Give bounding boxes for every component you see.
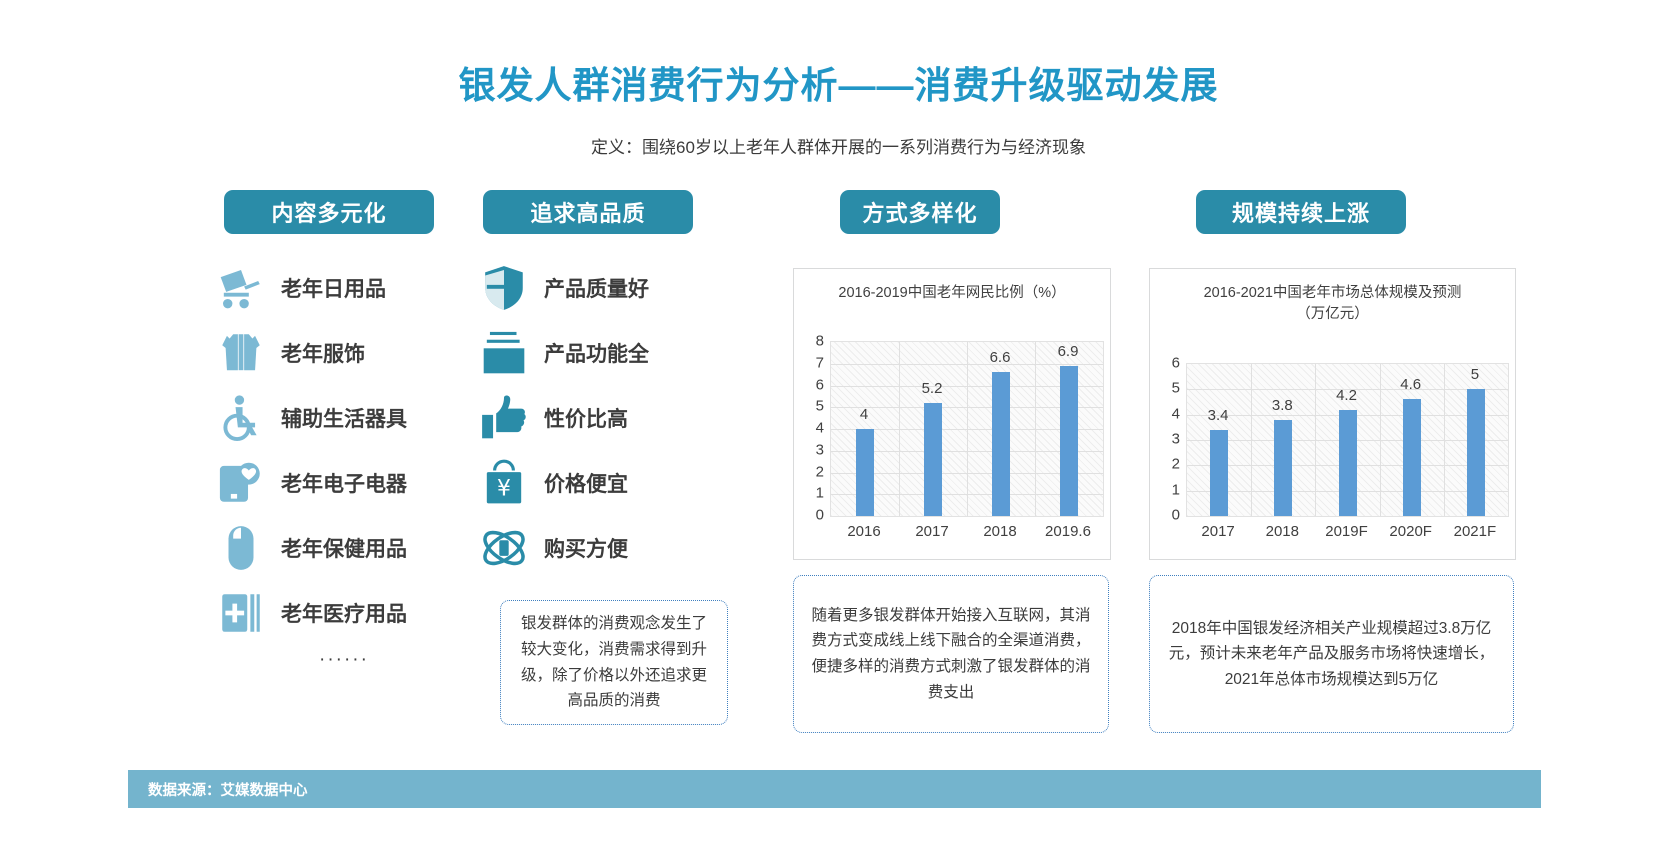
list-high-quality: 产品质量好 产品功能全 性价比高 — [478, 255, 728, 580]
gridline — [1315, 364, 1316, 516]
y-axis-tick: 3 — [816, 441, 824, 458]
jacket-icon — [215, 327, 267, 379]
list-item: 老年电子电器 — [215, 450, 465, 515]
thumbs-up-icon — [478, 392, 530, 444]
infographic-slide: 银发人群消费行为分析——消费升级驱动发展 定义：围绕60岁以上老年人群体开展的一… — [0, 0, 1677, 845]
list-item: 老年日用品 — [215, 255, 465, 320]
list-item-label: 老年日用品 — [281, 273, 386, 303]
bar-value-label: 5.2 — [922, 380, 943, 397]
capsule-pill-icon — [215, 522, 267, 574]
y-axis-tick: 2 — [816, 463, 824, 480]
shield-icon — [478, 262, 530, 314]
note-channel: 随着更多银发群体开始接入互联网，其消费方式变成线上线下融合的全渠道消费，便捷多样… — [793, 575, 1109, 733]
bar — [1467, 389, 1485, 516]
list-item-label: 价格便宜 — [544, 468, 628, 498]
note-text: 银发群体的消费观念发生了较大变化，消费需求得到升级，除了价格以外还追求更高品质的… — [515, 611, 713, 713]
list-item: 老年服饰 — [215, 320, 465, 385]
section-header-growing-scale: 规模持续上涨 — [1196, 190, 1406, 234]
bar-value-label: 6.9 — [1058, 343, 1079, 360]
list-item: 产品功能全 — [478, 320, 728, 385]
y-axis-tick: 5 — [1172, 380, 1180, 397]
yuan-shopping-bag-icon: ¥ — [478, 457, 530, 509]
section-header-high-quality: 追求高品质 — [483, 190, 693, 234]
list-item: 老年保健用品 — [215, 515, 465, 580]
y-axis-tick: 7 — [816, 354, 824, 371]
list-ellipsis: ······ — [319, 649, 465, 671]
chart-plot-area: 012345678420165.220176.620186.92019.6 — [794, 315, 1112, 551]
list-item: 性价比高 — [478, 385, 728, 450]
bar — [856, 429, 874, 516]
gridline — [1444, 364, 1445, 516]
list-item-label: 性价比高 — [544, 403, 628, 433]
y-axis-tick: 2 — [1172, 456, 1180, 473]
y-axis-tick: 0 — [1172, 507, 1180, 524]
y-axis-tick: 1 — [816, 485, 824, 502]
x-axis-tick: 2016 — [847, 523, 880, 540]
y-axis-tick: 1 — [1172, 481, 1180, 498]
document-stack-icon — [478, 327, 530, 379]
chart-plot — [830, 341, 1104, 517]
list-item-label: 老年电子电器 — [281, 468, 407, 498]
list-item: ¥ 价格便宜 — [478, 450, 728, 515]
list-item-label: 老年服饰 — [281, 338, 365, 368]
note-quality: 银发群体的消费观念发生了较大变化，消费需求得到升级，除了价格以外还追求更高品质的… — [500, 600, 728, 725]
chart-plot-area: 01234563.420173.820184.22019F4.62020F520… — [1150, 337, 1517, 551]
chart-title: 2016-2019中国老年网民比例（%） — [794, 269, 1110, 304]
bar-value-label: 6.6 — [990, 349, 1011, 366]
bar-value-label: 4 — [860, 406, 868, 423]
x-axis-tick: 2019F — [1325, 523, 1368, 540]
section-header-content-diversity: 内容多元化 — [224, 190, 434, 234]
bar — [992, 372, 1010, 516]
x-axis-tick: 2018 — [1266, 523, 1299, 540]
bar — [1339, 410, 1357, 516]
chart-card-elderly-market-size: 2016-2021中国老年市场总体规模及预测 （万亿元） 01234563.42… — [1149, 268, 1516, 560]
list-item: 产品质量好 — [478, 255, 728, 320]
bar — [1210, 430, 1228, 516]
gridline — [1251, 364, 1252, 516]
x-axis-tick: 2017 — [915, 523, 948, 540]
y-axis-tick: 4 — [1172, 405, 1180, 422]
y-axis-tick: 8 — [816, 333, 824, 350]
chart-card-elderly-netizen-ratio: 2016-2019中国老年网民比例（%） 012345678420165.220… — [793, 268, 1111, 560]
y-axis-tick: 4 — [816, 420, 824, 437]
bar — [1060, 366, 1078, 516]
shopping-cart-icon — [215, 262, 267, 314]
y-axis-tick: 0 — [816, 507, 824, 524]
list-item-label: 产品功能全 — [544, 338, 649, 368]
bar — [1403, 399, 1421, 516]
section-header-diverse-channels: 方式多样化 — [840, 190, 1000, 234]
list-item: 辅助生活器具 — [215, 385, 465, 450]
gridline — [1035, 342, 1036, 516]
medical-book-icon — [215, 587, 267, 639]
bar-value-label: 4.2 — [1336, 387, 1357, 404]
gridline — [899, 342, 900, 516]
wheelchair-icon — [215, 392, 267, 444]
chart-title: 2016-2021中国老年市场总体规模及预测 （万亿元） — [1150, 269, 1515, 325]
list-item: 购买方便 — [478, 515, 728, 580]
y-axis-tick: 6 — [1172, 355, 1180, 372]
note-text: 2018年中国银发经济相关产业规模超过3.8万亿元，预计未来老年产品及服务市场将… — [1164, 616, 1499, 693]
x-axis-tick: 2019.6 — [1045, 523, 1091, 540]
x-axis-tick: 2020F — [1389, 523, 1432, 540]
bar-value-label: 3.8 — [1272, 397, 1293, 414]
list-item-label: 购买方便 — [544, 533, 628, 563]
svg-text:¥: ¥ — [497, 476, 511, 501]
data-source-label: 数据来源：艾媒数据中心 — [148, 779, 308, 800]
list-item-label: 辅助生活器具 — [281, 403, 407, 433]
y-axis-tick: 3 — [1172, 431, 1180, 448]
x-axis-tick: 2021F — [1454, 523, 1497, 540]
list-item: 老年医疗用品 — [215, 580, 465, 645]
list-item-label: 老年保健用品 — [281, 533, 407, 563]
gridline — [967, 342, 968, 516]
bar-value-label: 4.6 — [1400, 376, 1421, 393]
bar — [924, 403, 942, 516]
bar-value-label: 5 — [1471, 366, 1479, 383]
bar — [1274, 420, 1292, 516]
note-scale: 2018年中国银发经济相关产业规模超过3.8万亿元，预计未来老年产品及服务市场将… — [1149, 575, 1514, 733]
y-axis-tick: 6 — [816, 376, 824, 393]
bar-value-label: 3.4 — [1208, 407, 1229, 424]
list-item-label: 老年医疗用品 — [281, 598, 407, 628]
atom-mobile-icon — [478, 522, 530, 574]
page-title: 银发人群消费行为分析——消费升级驱动发展 — [0, 55, 1677, 109]
page-subtitle: 定义：围绕60岁以上老年人群体开展的一系列消费行为与经济现象 — [0, 133, 1677, 158]
gridline — [1380, 364, 1381, 516]
y-axis-tick: 5 — [816, 398, 824, 415]
list-content-diversity: 老年日用品 老年服饰 — [215, 255, 465, 671]
x-axis-tick: 2018 — [983, 523, 1016, 540]
footer-bar: 数据来源：艾媒数据中心 — [128, 770, 1541, 808]
smartphone-heart-icon — [215, 457, 267, 509]
list-item-label: 产品质量好 — [544, 273, 649, 303]
x-axis-tick: 2017 — [1201, 523, 1234, 540]
note-text: 随着更多银发群体开始接入互联网，其消费方式变成线上线下融合的全渠道消费，便捷多样… — [808, 603, 1094, 705]
